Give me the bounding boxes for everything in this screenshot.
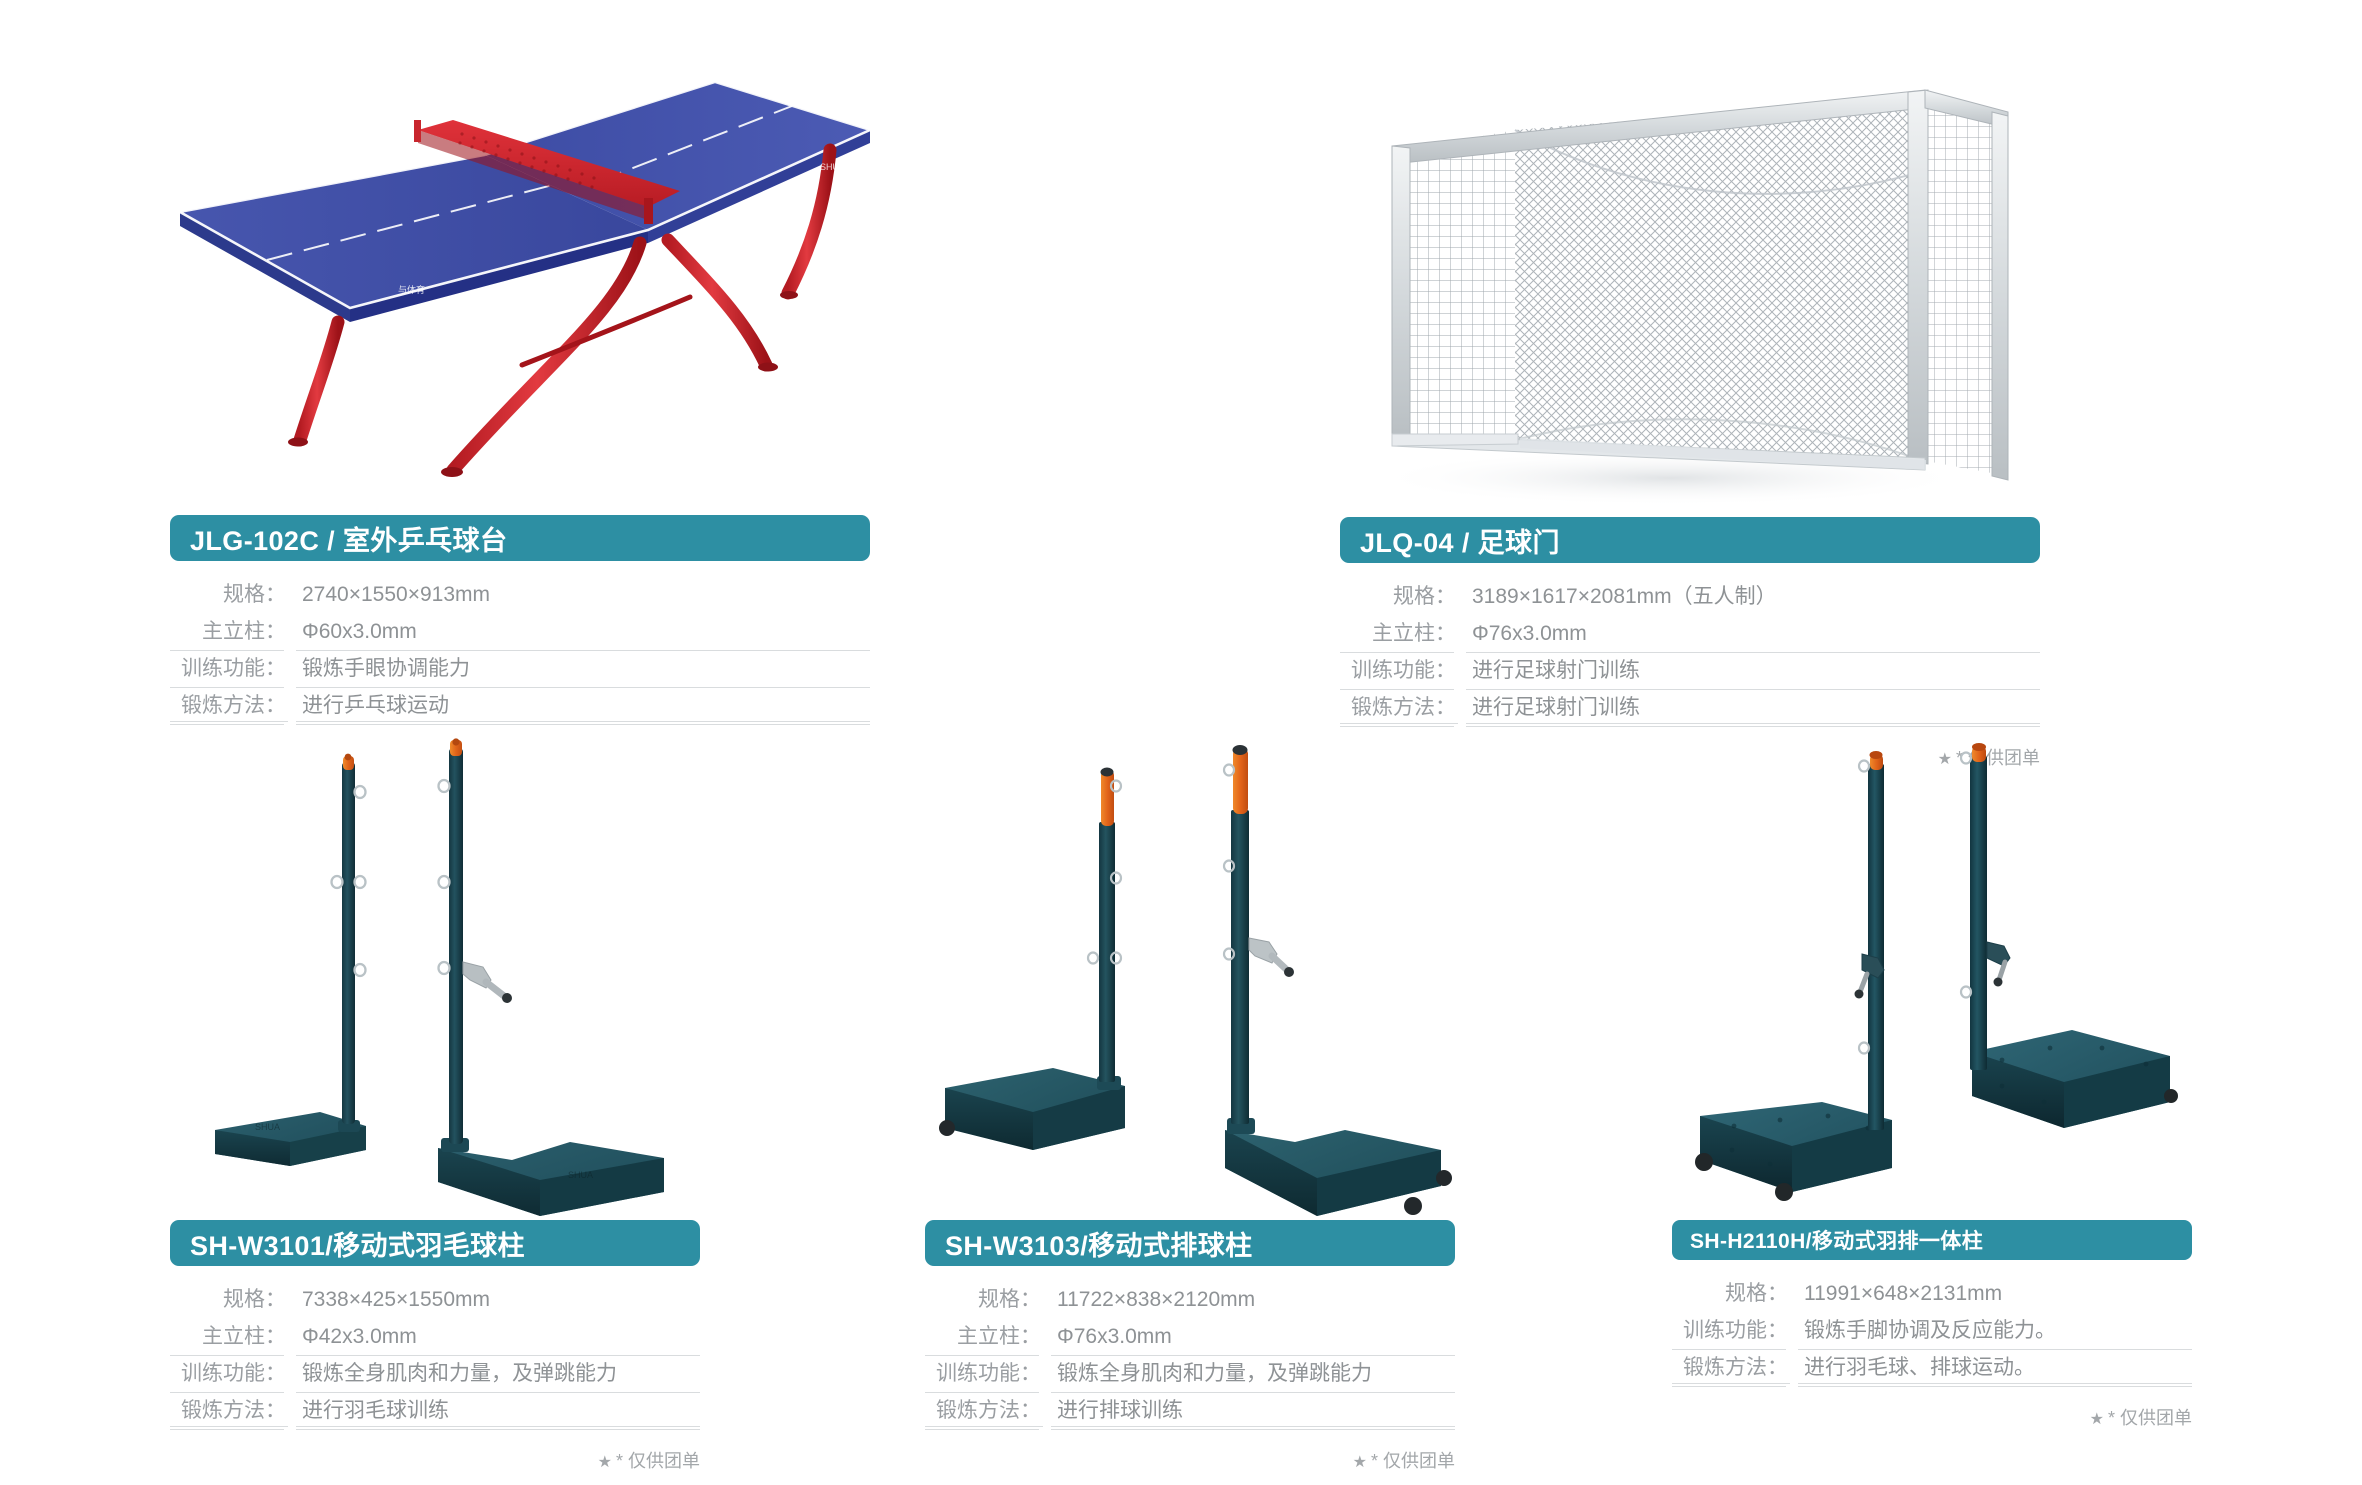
product-title-sh-h2110h: SH-H2110H/移动式羽排一体柱 <box>1690 1225 1983 1255</box>
catalog-page: 与体育 SHUA JLG-102C / 室外乒乓球台 规格： 2740×1550… <box>0 0 2362 1485</box>
goal-left-base-bar <box>1392 434 1518 446</box>
spec-row: 锻炼方法： 进行足球射门训练 <box>1340 686 2040 723</box>
spec-label: 锻炼方法： <box>925 1396 1043 1426</box>
product-title-bar-jlg-102c[interactable]: JLG-102C / 室外乒乓球台 <box>170 515 870 561</box>
goal-right-upright <box>1908 90 1928 464</box>
note-text: * 仅供团单 <box>616 1451 700 1471</box>
group-order-note-sh-w3101: ★* 仅供团单 <box>170 1447 700 1473</box>
goal-left-upright <box>1392 146 1410 438</box>
spec-value: 11991×648×2131mm <box>1790 1279 2192 1309</box>
spec-table-jlq-04: 规格： 3189×1617×2081mm（五人制） 主立柱： Φ76x3.0mm… <box>1340 575 2040 732</box>
soccer-goal-illustration <box>1340 60 2040 517</box>
spec-row: 主立柱： Φ76x3.0mm <box>925 1315 1455 1352</box>
spec-label: 训练功能： <box>170 1359 288 1389</box>
spec-row: 训练功能： 锻炼全身肌肉和力量，及弹跳能力 <box>170 1352 700 1389</box>
vb-right-caster-rear <box>1436 1170 1452 1186</box>
right-post-rings <box>439 780 450 974</box>
spec-value: 进行乒乓球运动 <box>288 691 870 721</box>
spec-label: 规格： <box>925 1285 1043 1315</box>
combined-post-left <box>1695 751 1892 1201</box>
goal-net-left-panel <box>1395 130 1515 440</box>
product-title-sh-w3103: SH-W3103/移动式排球柱 <box>945 1224 1253 1263</box>
spec-table-bottom-rule <box>1672 1383 2192 1392</box>
badminton-post-right: SHUA <box>438 738 664 1216</box>
spec-label: 锻炼方法： <box>1672 1353 1790 1383</box>
spec-row: 规格： 11991×648×2131mm <box>1672 1272 2192 1309</box>
spec-label: 规格： <box>1340 582 1458 612</box>
spec-label: 主立柱： <box>1340 619 1458 649</box>
product-title-bar-sh-h2110h[interactable]: SH-H2110H/移动式羽排一体柱 <box>1672 1220 2192 1260</box>
product-title-bar-sh-w3101[interactable]: SH-W3101/移动式羽毛球柱 <box>170 1220 700 1266</box>
vb-left-top-cap <box>1101 768 1114 777</box>
spec-value: Φ76x3.0mm <box>1043 1322 1455 1352</box>
spec-value: 7338×425×1550mm <box>288 1285 700 1315</box>
spec-value: 进行羽毛球、排球运动。 <box>1790 1353 2192 1383</box>
spec-value: 进行足球射门训练 <box>1458 693 2040 723</box>
spec-label: 主立柱： <box>170 1322 288 1352</box>
product-card-sh-w3103: SH-W3103/移动式排球柱 规格： 11722×838×2120mm 主立柱… <box>925 730 1455 1473</box>
combined-posts-illustration <box>1672 730 2192 1220</box>
spec-row: 主立柱： Φ76x3.0mm <box>1340 612 2040 649</box>
table-brand-mark: 与体育 <box>398 284 425 295</box>
volleyball-post-left <box>939 768 1125 1151</box>
spec-value: Φ60x3.0mm <box>288 617 870 647</box>
spec-value: 锻炼手脚协调及反应能力。 <box>1790 1316 2192 1346</box>
spec-table-sh-w3103: 规格： 11722×838×2120mm 主立柱： Φ76x3.0mm 训练功能… <box>925 1278 1455 1435</box>
table-brand-mark-right: SHUA <box>820 162 845 172</box>
note-text: * 仅供团单 <box>2108 1408 2192 1428</box>
group-order-note-sh-h2110h: ★* 仅供团单 <box>1672 1404 2192 1430</box>
spec-value: Φ42x3.0mm <box>288 1322 700 1352</box>
product-title-bar-sh-w3103[interactable]: SH-W3103/移动式排球柱 <box>925 1220 1455 1266</box>
table-tennis-illustration: 与体育 SHUA <box>170 60 870 515</box>
spec-label: 训练功能： <box>1672 1316 1790 1346</box>
product-card-sh-w3101: SHUA <box>170 730 700 1473</box>
spec-table-jlg-102c: 规格： 2740×1550×913mm 主立柱： Φ60x3.0mm 训练功能：… <box>170 573 870 730</box>
left-cap-hole <box>345 754 352 761</box>
left-post-shaft <box>342 762 355 1124</box>
cu-right-rings <box>1961 753 1971 998</box>
product-card-sh-h2110h: SH-H2110H/移动式羽排一体柱 规格： 11991×648×2131mm … <box>1672 730 2192 1430</box>
spec-table-sh-w3101: 规格： 7338×425×1550mm 主立柱： Φ42x3.0mm 训练功能：… <box>170 1278 700 1435</box>
product-image-mobile-volleyball-posts <box>925 730 1455 1220</box>
product-title-bar-jlq-04[interactable]: JLQ-04 / 足球门 <box>1340 517 2040 563</box>
spec-label: 训练功能： <box>170 654 288 684</box>
spec-value: 进行足球射门训练 <box>1458 656 2040 686</box>
note-text: * 仅供团单 <box>1371 1451 1455 1471</box>
spec-row: 主立柱： Φ42x3.0mm <box>170 1315 700 1352</box>
spec-row: 训练功能： 锻炼手脚协调及反应能力。 <box>1672 1309 2192 1346</box>
vb-right-crank-handle <box>1249 938 1294 977</box>
product-image-mobile-combined-badminton-volleyball-posts <box>1672 730 2192 1220</box>
spec-row: 规格： 11722×838×2120mm <box>925 1278 1455 1315</box>
product-image-outdoor-table-tennis-table: 与体育 SHUA <box>170 60 870 515</box>
spec-row: 主立柱： Φ60x3.0mm <box>170 610 870 647</box>
volleyball-posts-illustration <box>925 730 1455 1220</box>
right-cap-hole <box>452 738 459 745</box>
cu-left-caster-b <box>1775 1183 1793 1201</box>
spec-row: 锻炼方法： 进行排球训练 <box>925 1389 1455 1426</box>
spec-label: 主立柱： <box>170 617 288 647</box>
cu-left-caster-a <box>1695 1153 1713 1171</box>
spec-row: 规格： 3189×1617×2081mm（五人制） <box>1340 575 2040 612</box>
right-post-crank-handle <box>463 962 512 1003</box>
spec-table-bottom-rule <box>170 1426 700 1435</box>
product-card-jlq-04: JLQ-04 / 足球门 规格： 3189×1617×2081mm（五人制） 主… <box>1340 60 2040 770</box>
spec-value: 2740×1550×913mm <box>288 580 870 610</box>
spec-row: 锻炼方法： 进行羽毛球训练 <box>170 1389 700 1426</box>
spec-value: 进行羽毛球训练 <box>288 1396 700 1426</box>
spec-label: 训练功能： <box>925 1359 1043 1389</box>
right-post-shaft <box>449 748 463 1144</box>
product-image-mobile-badminton-posts: SHUA <box>170 730 700 1220</box>
spec-value: 11722×838×2120mm <box>1043 1285 1455 1315</box>
spec-row: 训练功能： 锻炼手眼协调能力 <box>170 647 870 684</box>
spec-label: 主立柱： <box>925 1322 1043 1352</box>
spec-value: 进行排球训练 <box>1043 1396 1455 1426</box>
spec-value: 锻炼全身肌肉和力量，及弹跳能力 <box>1043 1359 1455 1389</box>
cu-left-cap-top <box>1870 751 1883 759</box>
spec-row: 规格： 2740×1550×913mm <box>170 573 870 610</box>
vb-left-orange-section <box>1101 770 1114 826</box>
goal-net-right-panel <box>1920 98 2002 475</box>
product-title-sh-w3101: SH-W3101/移动式羽毛球柱 <box>190 1224 525 1263</box>
group-order-note-sh-w3103: ★* 仅供团单 <box>925 1447 1455 1473</box>
spec-row: 锻炼方法： 进行羽毛球、排球运动。 <box>1672 1346 2192 1383</box>
cu-left-rings <box>1859 761 1869 1054</box>
product-image-soccer-goal <box>1340 60 2040 517</box>
combined-post-right <box>1961 743 2178 1128</box>
note-star-icon: ★ <box>598 1454 612 1471</box>
spec-table-sh-h2110h: 规格： 11991×648×2131mm 训练功能： 锻炼手脚协调及反应能力。 … <box>1672 1272 2192 1392</box>
spec-label: 规格： <box>170 1285 288 1315</box>
product-title-jlq-04: JLQ-04 / 足球门 <box>1360 521 1560 560</box>
vb-right-shaft <box>1231 810 1249 1124</box>
spec-row: 训练功能： 进行足球射门训练 <box>1340 649 2040 686</box>
spec-value: Φ76x3.0mm <box>1458 619 2040 649</box>
spec-label: 规格： <box>1672 1279 1790 1309</box>
spec-value: 锻炼手眼协调能力 <box>288 654 870 684</box>
leg-back-left <box>300 322 338 440</box>
cu-right-crank-handle <box>1987 942 2010 987</box>
spec-label: 训练功能： <box>1340 656 1458 686</box>
vb-left-shaft <box>1099 822 1115 1082</box>
spec-value: 3189×1617×2081mm（五人制） <box>1458 582 2040 612</box>
vb-left-caster <box>939 1120 955 1136</box>
vb-right-top-cap <box>1233 745 1248 755</box>
badminton-post-left: SHUA <box>215 754 366 1166</box>
goal-rear-right-upright <box>1992 112 2008 480</box>
right-base-brand: SHUA <box>568 1170 593 1180</box>
net-post-left <box>414 120 421 142</box>
spec-row: 规格： 7338×425×1550mm <box>170 1278 700 1315</box>
spec-label: 锻炼方法： <box>1340 693 1458 723</box>
vb-right-caster-front <box>1404 1197 1422 1215</box>
table-feet <box>288 291 798 477</box>
spec-row: 锻炼方法： 进行乒乓球运动 <box>170 684 870 721</box>
cu-right-shaft <box>1970 756 1987 1070</box>
spec-label: 锻炼方法： <box>170 1396 288 1426</box>
spec-table-bottom-rule <box>170 721 870 730</box>
product-title-jlg-102c: JLG-102C / 室外乒乓球台 <box>190 519 507 558</box>
goal-net-front <box>1515 98 1920 460</box>
note-star-icon: ★ <box>2090 1411 2104 1428</box>
spec-label: 锻炼方法： <box>170 691 288 721</box>
left-base-brand: SHUA <box>255 1122 280 1132</box>
volleyball-post-right <box>1224 745 1452 1216</box>
cu-right-cap-top <box>1972 743 1986 751</box>
product-card-jlg-102c: 与体育 SHUA JLG-102C / 室外乒乓球台 规格： 2740×1550… <box>170 60 870 730</box>
spec-label: 规格： <box>170 580 288 610</box>
note-star-icon: ★ <box>1353 1454 1367 1471</box>
cu-left-shaft <box>1868 764 1884 1130</box>
net-post-right <box>644 198 653 224</box>
badminton-posts-illustration: SHUA <box>170 730 700 1220</box>
cu-right-caster <box>2164 1089 2178 1103</box>
spec-table-bottom-rule <box>925 1426 1455 1435</box>
vb-right-orange-section <box>1233 748 1248 814</box>
spec-value: 锻炼全身肌肉和力量，及弹跳能力 <box>288 1359 700 1389</box>
spec-row: 训练功能： 锻炼全身肌肉和力量，及弹跳能力 <box>925 1352 1455 1389</box>
